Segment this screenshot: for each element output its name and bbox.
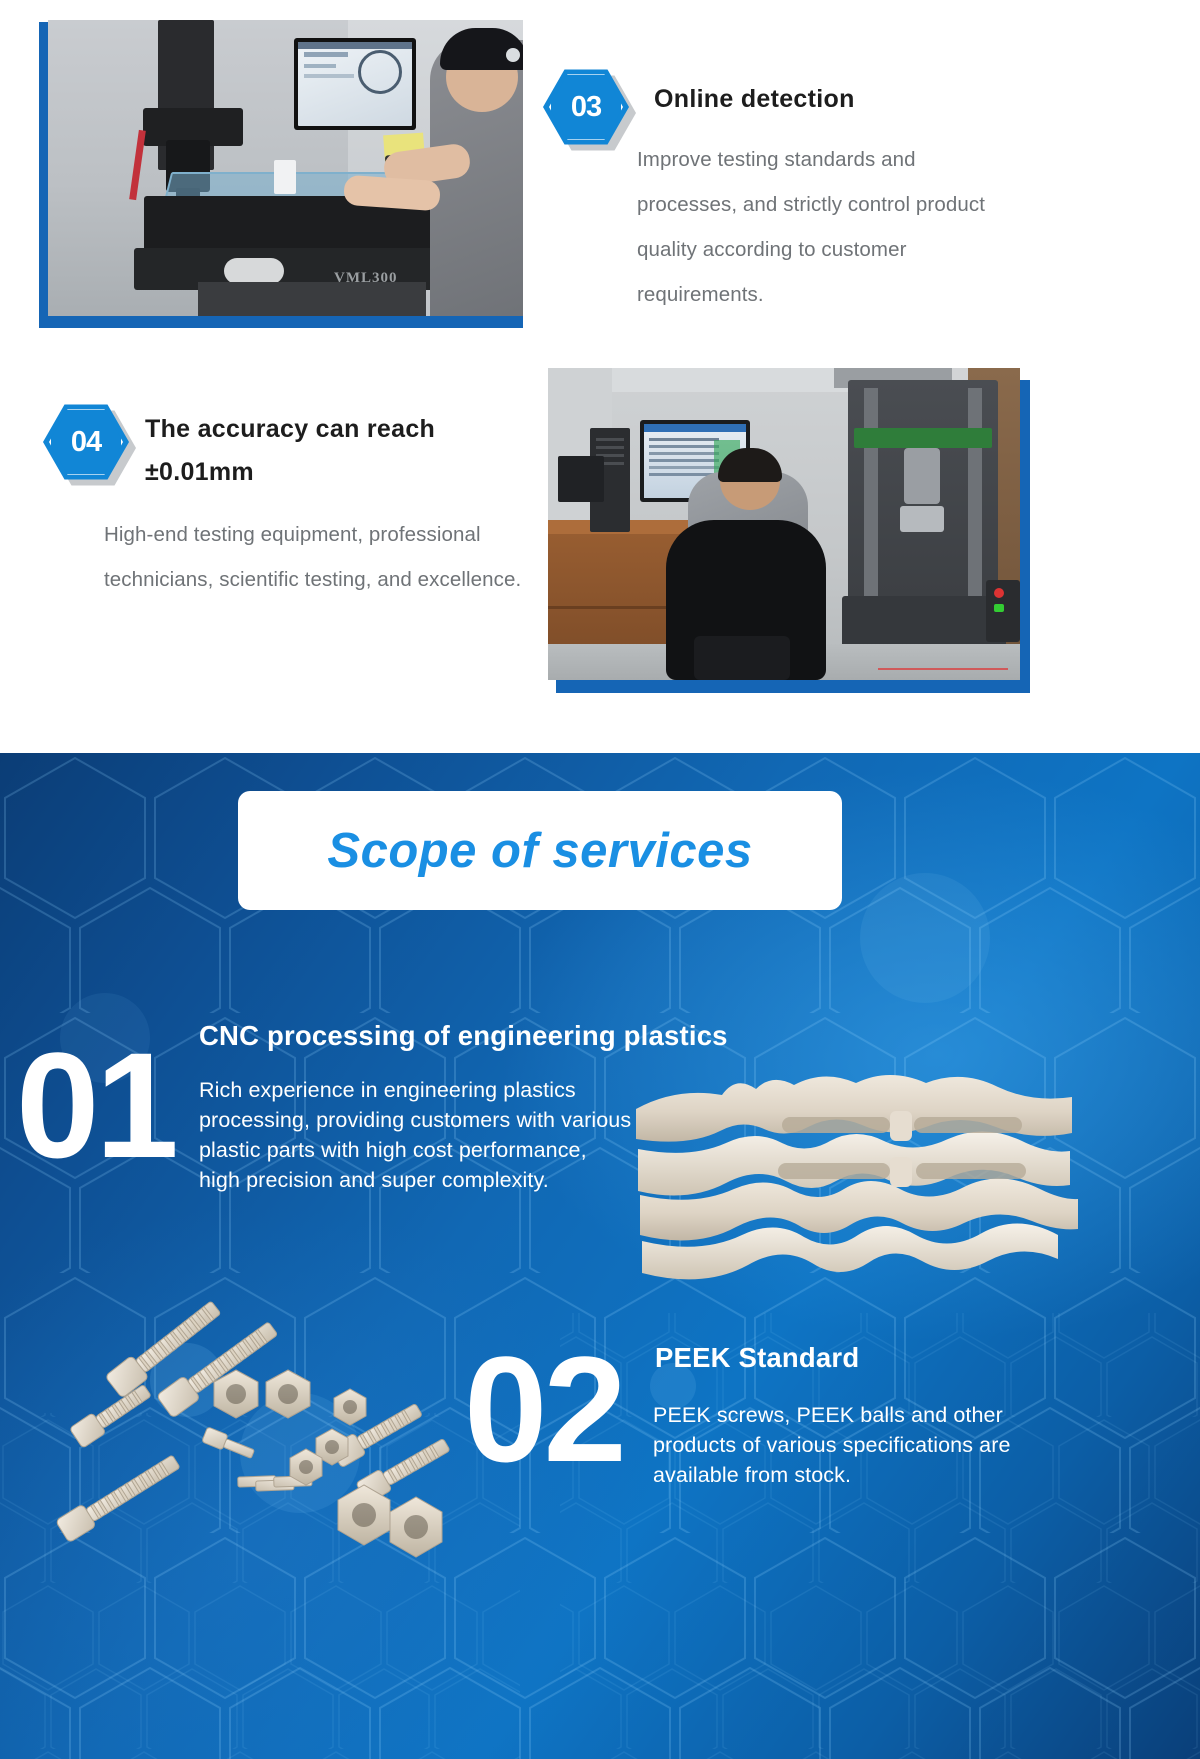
product-image-peek-chain-part [628,1055,1080,1283]
feature-badge-number: 04 [43,403,129,481]
feature-photo-online-detection: VML300 [39,10,523,328]
feature-body-online-detection: Improve testing standards and processes,… [637,137,1017,317]
bokeh-circle [860,873,990,1003]
photo-image-measuring-machine: VML300 [48,20,523,316]
feature-title-accuracy: The accuracy can reach ±0.01mm [145,408,505,494]
feature-badge-number: 03 [543,68,629,146]
scope-section-number-01: 01 [16,1030,175,1180]
scope-section-body-peek: PEEK screws, PEEK balls and other produc… [653,1400,1055,1490]
feature-title-online-detection: Online detection [654,78,855,121]
scope-section-number-02: 02 [464,1334,623,1484]
feature-body-accuracy: High-end testing equipment, professional… [104,512,534,602]
photo-image-tensile-tester [548,368,1020,680]
feature-badge-03: 03 [543,68,629,146]
features-section: VML300 03 Online detection Improve testi… [0,0,1200,862]
scope-section-title-cnc: CNC processing of engineering plastics [199,1020,728,1052]
product-image-peek-screws [38,1290,478,1560]
feature-photo-accuracy [548,368,1030,693]
scope-heading-card: Scope of services [238,791,842,910]
scope-section-body-cnc: Rich experience in engineering plastics … [199,1075,633,1195]
scope-heading-text: Scope of services [327,823,752,879]
feature-badge-04: 04 [43,403,129,481]
scope-section-title-peek: PEEK Standard [655,1342,859,1374]
